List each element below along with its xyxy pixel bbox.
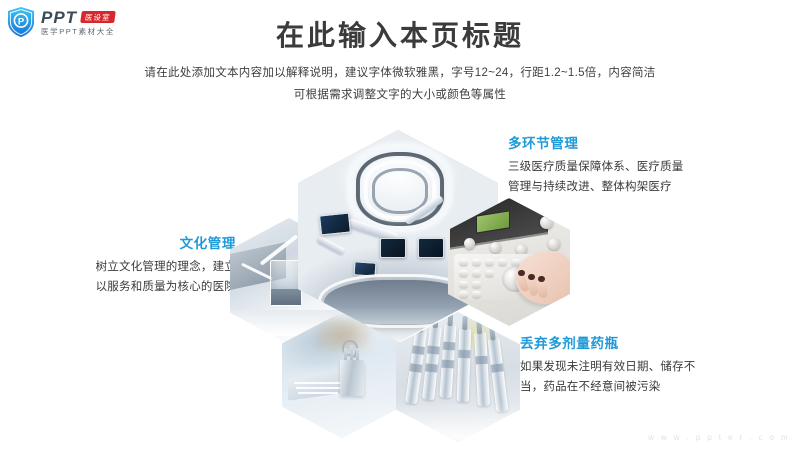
syringe-band-shape [475, 356, 487, 365]
callout-heading: 丢弃多剂量药瓶 [520, 336, 740, 352]
syringe-band-shape [443, 342, 456, 351]
keypad-key-shape [485, 259, 494, 266]
subtitle-line-2: 可根据需求调整文字的大小或颜色等属性 [0, 84, 800, 106]
callout-body-line-1: 三级医疗质量保障体系、医疗质量 [508, 161, 684, 173]
syringe-shape [439, 324, 456, 399]
fingernail-shape [518, 270, 525, 276]
callout-body-line-2: 管理与持续改进、整体构架医疗 [508, 181, 672, 193]
or-monitor-shape [319, 212, 351, 235]
callout-body-line-1: 树立文化管理的理念，建立 [96, 261, 236, 273]
callout-body: 三级医疗质量保障体系、医疗质量 管理与持续改进、整体构架医疗 [508, 157, 728, 197]
keypad-key-shape [472, 270, 481, 277]
subtitle-line-1: 请在此处添加文本内容加以解释说明，建议字体微软雅黑，字号12~24，行距1.2~… [0, 62, 800, 84]
syringe-band-shape [427, 345, 440, 354]
keypad-key-shape [459, 281, 468, 288]
keypad-key-shape [459, 291, 468, 298]
keypad-key-shape [472, 259, 481, 266]
syringe-band-shape [491, 363, 504, 372]
equipment-arm-shape [316, 235, 346, 255]
console-knob-shape [490, 242, 501, 253]
syringe-band-shape [412, 345, 425, 355]
instrument-line-shape [296, 387, 342, 389]
instrument-line-shape [294, 382, 346, 384]
syringe-band-shape [409, 363, 422, 373]
keypad-key-shape [459, 270, 468, 277]
syringe-shape [457, 328, 472, 402]
callout-body: 如果发现未注明有效日期、储存不 当，药品在不经意间被污染 [520, 357, 740, 397]
callout-multi-link-management: 多环节管理 三级医疗质量保障体系、医疗质量 管理与持续改进、整体构架医疗 [508, 136, 728, 197]
fingernail-shape [538, 276, 545, 282]
console-screen-shape [476, 210, 510, 233]
callout-heading: 文化管理 [36, 236, 236, 252]
syringe-tip-shape [462, 316, 467, 330]
syringe-tip-shape [489, 326, 496, 341]
callout-body: 树立文化管理的理念，建立 以服务和质量为核心的医院 [36, 257, 236, 297]
syringe-band-shape [425, 363, 438, 372]
keypad-key-shape [459, 259, 468, 266]
page-subtitle: 请在此处添加文本内容加以解释说明，建议字体微软雅黑，字号12~24，行距1.2~… [0, 62, 800, 106]
callout-culture-management: 文化管理 树立文化管理的理念，建立 以服务和质量为核心的医院 [36, 236, 236, 297]
console-knob-shape [540, 216, 553, 229]
foreground-blur-shape [396, 402, 520, 442]
site-watermark: w w w . p p t e r . c o m [648, 433, 790, 442]
keypad-key-shape [472, 281, 481, 288]
keypad-key-shape [472, 291, 481, 298]
syringe-band-shape [458, 350, 470, 358]
callout-body-line-2: 当，药品在不经意间被污染 [520, 381, 660, 393]
syringe-band-shape [442, 360, 455, 369]
or-monitor-shape [418, 238, 444, 258]
keypad-key-shape [498, 259, 507, 266]
beaker-shape [270, 260, 302, 306]
keypad-key-shape [485, 270, 494, 277]
callout-discard-multidose-vial: 丢弃多剂量药瓶 如果发现未注明有效日期、储存不 当，药品在不经意间被污染 [520, 336, 740, 397]
callout-heading: 多环节管理 [508, 136, 728, 152]
console-knob-shape [548, 238, 560, 250]
callout-body-line-1: 如果发现未注明有效日期、储存不 [520, 361, 696, 373]
instrument-cup-shape [340, 360, 364, 396]
or-monitor-shape [380, 238, 406, 258]
syringe-tip-shape [476, 320, 482, 334]
callout-body-line-2: 以服务和质量为核心的医院 [96, 281, 236, 293]
console-knob-shape [464, 238, 475, 249]
instrument-line-shape [298, 392, 338, 394]
beaker-liquid-shape [271, 289, 301, 305]
fingernail-shape [528, 274, 535, 280]
page-title: 在此输入本页标题 [0, 14, 800, 54]
